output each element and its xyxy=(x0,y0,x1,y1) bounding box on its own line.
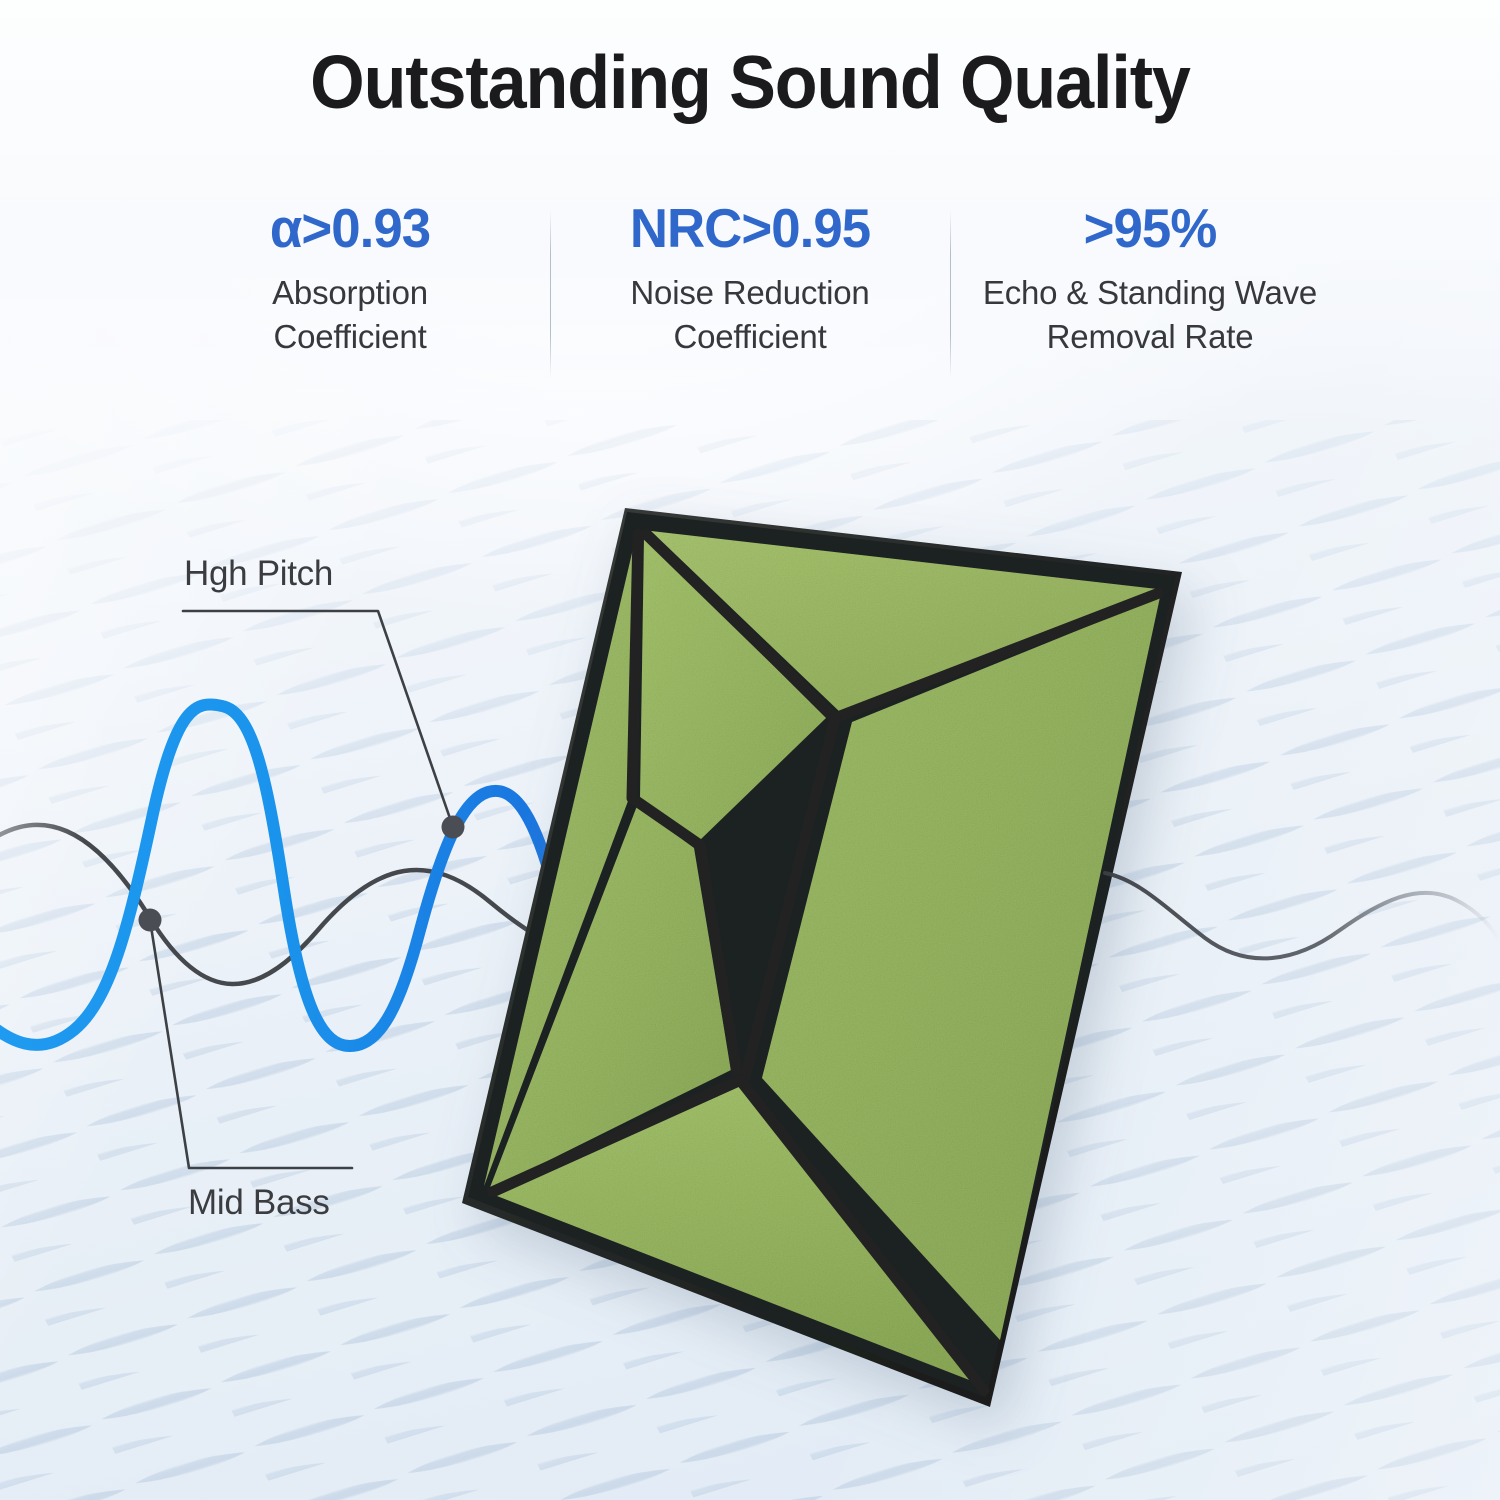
stat-value: α>0.93 xyxy=(170,198,531,260)
stat-label-line1: Noise Reduction xyxy=(630,274,869,311)
acoustic-panel xyxy=(462,508,1182,1407)
header: Outstanding Sound Quality xyxy=(0,44,1500,121)
outgoing-sound-waves xyxy=(1102,873,1500,958)
panel-sheen xyxy=(462,508,1182,1407)
callout-label-mid-bass: Mid Bass xyxy=(188,1183,330,1223)
stat-label-line2: Removal Rate xyxy=(962,315,1338,360)
callout-anchor-dots xyxy=(139,816,465,932)
stat-label: Echo & Standing Wave Removal Rate xyxy=(962,271,1338,360)
stat-label: Noise Reduction Coefficient xyxy=(562,271,938,360)
stat-label-line2: Coefficient xyxy=(162,315,538,360)
product-feature-graphic: Outstanding Sound Quality α>0.93 Absorpt… xyxy=(0,0,1500,1500)
stat-echo-standing-wave-removal-rate: >95% Echo & Standing Wave Removal Rate xyxy=(950,198,1350,360)
stats-row: α>0.93 Absorption Coefficient NRC>0.95 N… xyxy=(150,198,1350,360)
stat-label-line1: Echo & Standing Wave xyxy=(983,274,1317,311)
mid-bass-anchor-dot xyxy=(139,909,162,932)
callout-leaders xyxy=(150,611,453,1168)
stat-label: Absorption Coefficient xyxy=(162,271,538,360)
callout-label-high-pitch: Hgh Pitch xyxy=(184,554,333,594)
stat-noise-reduction-coefficient: NRC>0.95 Noise Reduction Coefficient xyxy=(550,198,950,360)
stat-value: NRC>0.95 xyxy=(570,198,931,260)
stat-value: >95% xyxy=(970,198,1331,260)
stat-label-line1: Absorption xyxy=(272,274,428,311)
high-pitch-leader-line xyxy=(183,611,453,827)
high-pitch-anchor-dot xyxy=(442,816,465,839)
stat-label-line2: Coefficient xyxy=(562,315,938,360)
page-title: Outstanding Sound Quality xyxy=(49,44,1452,121)
stat-absorption-coefficient: α>0.93 Absorption Coefficient xyxy=(150,198,550,360)
